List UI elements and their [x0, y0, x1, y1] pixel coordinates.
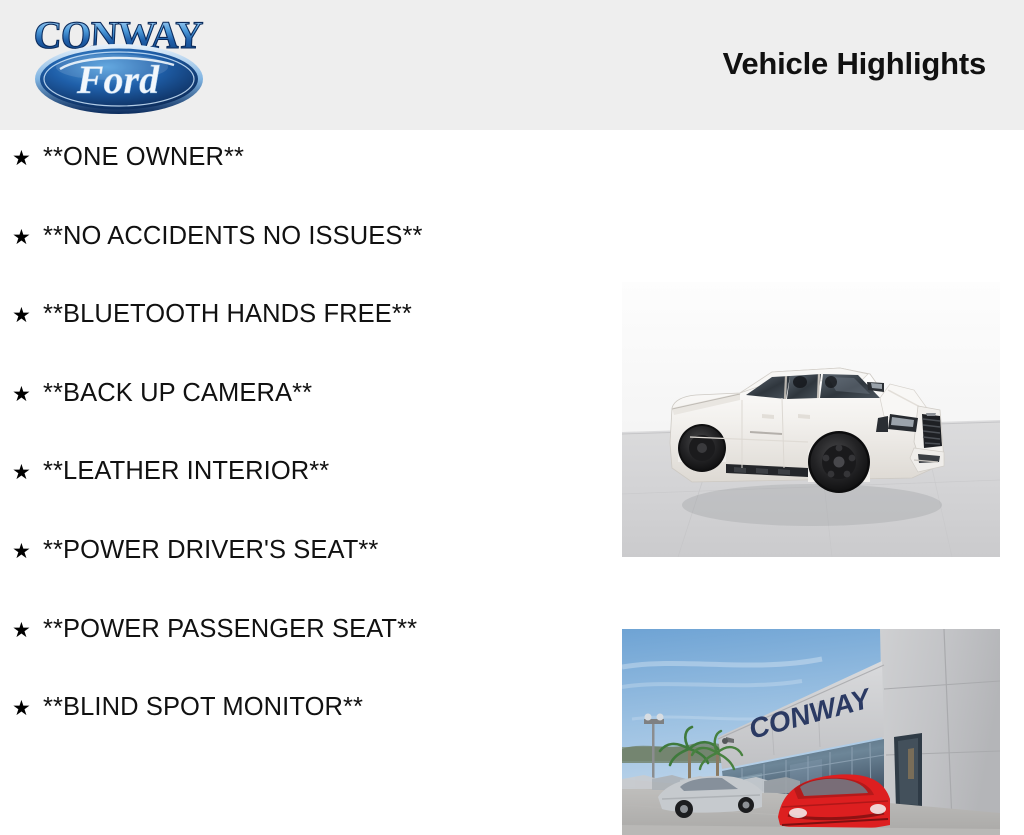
highlight-label: **NO ACCIDENTS NO ISSUES**	[43, 224, 423, 250]
highlight-item: ★**BACK UP CAMERA**	[12, 381, 312, 407]
highlight-item: ★**LEATHER INTERIOR**	[12, 459, 329, 485]
dealership-photo-image: CONWAY	[622, 629, 1000, 835]
vehicle-photo[interactable]	[622, 282, 1000, 557]
vehicle-photo-image	[622, 282, 1000, 557]
highlight-item: ★**POWER DRIVER'S SEAT**	[12, 538, 378, 564]
star-bullet-icon: ★	[12, 148, 43, 169]
highlight-label: **POWER PASSENGER SEAT**	[43, 617, 417, 643]
conway-ford-logo[interactable]: CONWAY Ford	[24, 12, 214, 114]
highlight-label: **BACK UP CAMERA**	[43, 381, 312, 407]
svg-text:Ford: Ford	[76, 57, 160, 102]
highlight-item: ★**NO ACCIDENTS NO ISSUES**	[12, 224, 423, 250]
star-bullet-icon: ★	[12, 305, 43, 326]
highlight-item: ★**POWER PASSENGER SEAT**	[12, 617, 417, 643]
highlight-item: ★**ONE OWNER**	[12, 145, 244, 171]
star-bullet-icon: ★	[12, 384, 43, 405]
page-title: Vehicle Highlights	[723, 46, 986, 82]
highlight-label: **BLUETOOTH HANDS FREE**	[43, 302, 412, 328]
highlight-item: ★**BLUETOOTH HANDS FREE**	[12, 302, 412, 328]
star-bullet-icon: ★	[12, 620, 43, 641]
star-bullet-icon: ★	[12, 462, 43, 483]
main-content: ★**ONE OWNER**★**NO ACCIDENTS NO ISSUES*…	[0, 130, 1024, 768]
highlight-label: **LEATHER INTERIOR**	[43, 459, 329, 485]
highlight-label: **POWER DRIVER'S SEAT**	[43, 538, 378, 564]
star-bullet-icon: ★	[12, 541, 43, 562]
ford-oval-icon: Ford	[34, 43, 204, 115]
dealership-photo[interactable]: CONWAY	[622, 629, 1000, 835]
star-bullet-icon: ★	[12, 698, 43, 719]
highlight-label: **ONE OWNER**	[43, 145, 244, 171]
highlight-label: **BLIND SPOT MONITOR**	[43, 695, 363, 721]
star-bullet-icon: ★	[12, 227, 43, 248]
page-header: CONWAY Ford	[0, 0, 1024, 130]
highlight-item: ★**BLIND SPOT MONITOR**	[12, 695, 363, 721]
